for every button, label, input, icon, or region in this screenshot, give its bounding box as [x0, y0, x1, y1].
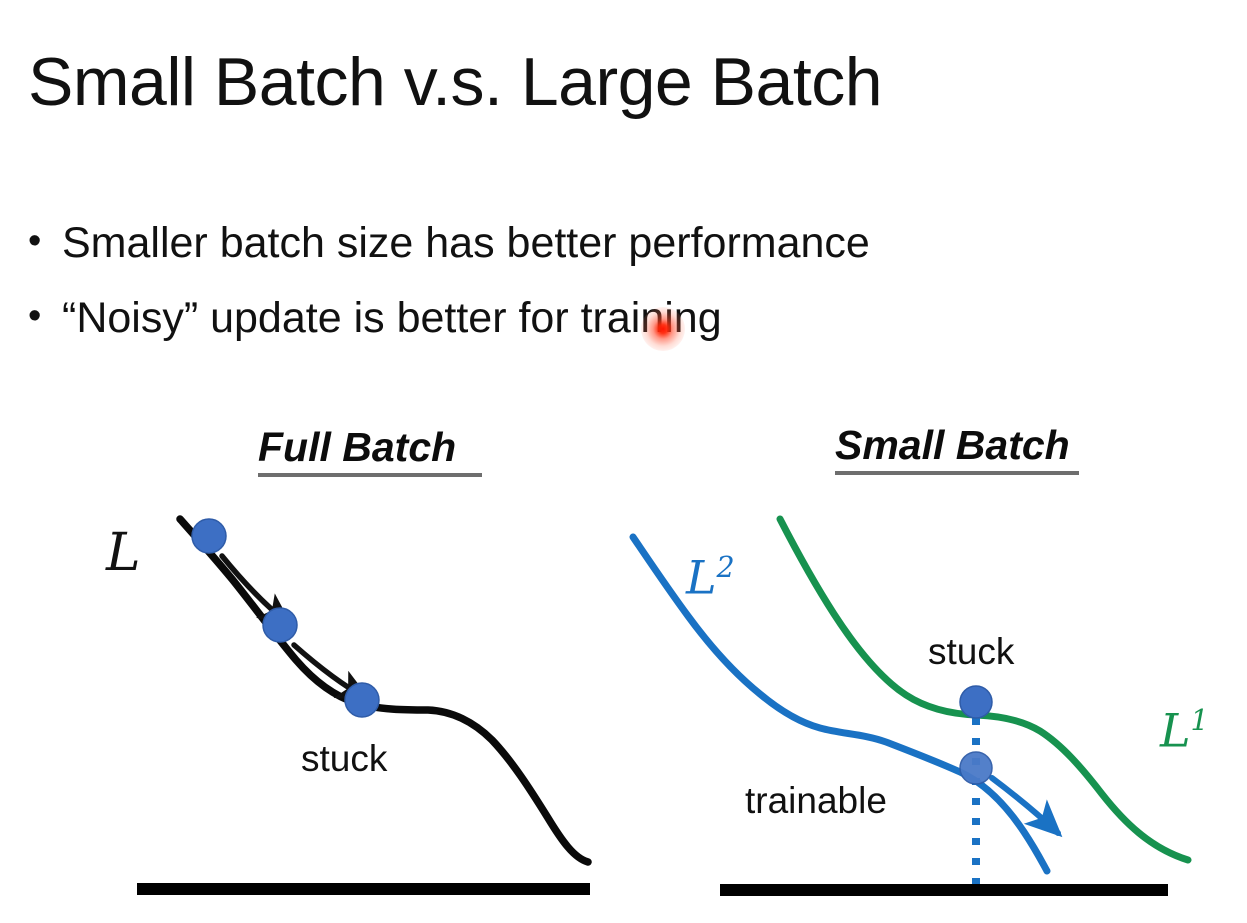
descent-dot-3 — [345, 683, 379, 717]
annotation-stuck-right: stuck — [928, 633, 1014, 670]
descent-dot-1 — [192, 519, 226, 553]
loss-curve-label-L1-base: L — [1160, 703, 1191, 757]
stuck-dot — [960, 686, 992, 718]
descent-dot-2 — [263, 608, 297, 642]
loss-landscape-diagrams — [0, 0, 1247, 923]
loss-curve-label-L-text: L — [106, 523, 141, 583]
trainable-dot — [960, 752, 992, 784]
loss-curve-label-L2: L2 — [686, 554, 735, 600]
loss-curve-label-L1: L1 — [1160, 707, 1209, 753]
slide-canvas: Small Batch v.s. Large Batch • Smaller b… — [0, 0, 1247, 923]
loss-curve-L — [180, 519, 588, 862]
loss-curve-label-L2-sup: 2 — [717, 551, 735, 584]
baseline-bar-right — [720, 884, 1168, 896]
loss-curve-label-L2-base: L — [686, 550, 717, 604]
annotation-trainable: trainable — [745, 782, 887, 819]
annotation-stuck-left: stuck — [301, 740, 387, 777]
full-batch-diagram — [137, 519, 590, 895]
loss-curve-label-L: L — [106, 527, 141, 579]
loss-curve-label-L1-sup: 1 — [1191, 704, 1209, 737]
baseline-bar-left — [137, 883, 590, 895]
